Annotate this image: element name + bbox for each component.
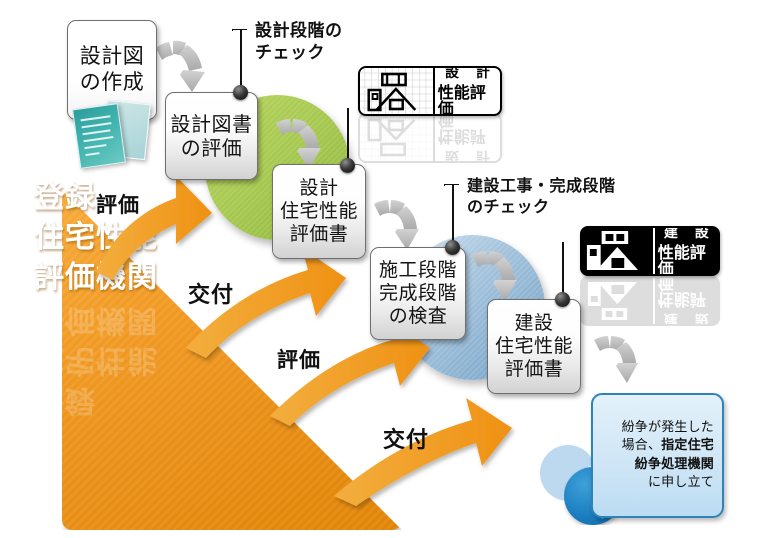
badge-text-reflection: 設 計性能評価 bbox=[433, 115, 500, 161]
flow-label-evaluation-1: 評価 bbox=[96, 189, 140, 219]
design-performance-badge: 設 計 性能評価 bbox=[358, 66, 502, 116]
dispute-line-3: 紛争処理機関 bbox=[622, 456, 714, 474]
construction-performance-badge: 建 設 性能評価 bbox=[580, 226, 720, 276]
callout-dot-construction bbox=[445, 240, 460, 255]
construction-badge-text: 建 設 性能評価 bbox=[653, 228, 718, 274]
node-design-housing-performance-report[interactable]: 設計 住宅性能 評価書 bbox=[272, 164, 366, 259]
node-construction-completion-inspection[interactable]: 施工段階 完成段階 の検査 bbox=[370, 247, 466, 340]
badge-text-reflection-2: 建 設性能評価 bbox=[653, 278, 718, 324]
dispute-resolution-note[interactable]: 紛争が発生した 場合、指定住宅 紛争処理機関 に申し立て bbox=[591, 393, 724, 518]
construction-performance-badge-reflection: 建 設性能評価 bbox=[580, 276, 720, 326]
house-grid-icon-reflection bbox=[360, 115, 433, 161]
callout-dot-construction-report bbox=[555, 292, 570, 307]
dispute-line-4: に申し立て bbox=[622, 474, 714, 492]
house-solid-icon bbox=[582, 228, 653, 274]
diagram-canvas: 設 計性能評価 建 設性能評価 bbox=[0, 0, 770, 538]
node-label: 建設 住宅性能 評価書 bbox=[495, 312, 573, 382]
house-solid-icon-reflection bbox=[582, 278, 653, 324]
drawing-documents-icon bbox=[74, 100, 154, 170]
callout-dot-design-report bbox=[340, 158, 355, 173]
flow-label-issuance-1: 交付 bbox=[188, 277, 234, 309]
callout-dot-design bbox=[233, 85, 248, 100]
node-label: 設計 住宅性能 評価書 bbox=[280, 177, 358, 247]
design-performance-badge-reflection: 設 計性能評価 bbox=[358, 113, 502, 163]
flow-label-evaluation-2: 評価 bbox=[277, 344, 321, 374]
document-front bbox=[72, 103, 126, 169]
badge-top-text: 建 設 bbox=[658, 226, 715, 240]
callout-stem-construction bbox=[452, 185, 454, 247]
dispute-line-2-bold: 指定住宅 bbox=[661, 438, 714, 453]
node-label: 設計図書 の評価 bbox=[171, 112, 253, 161]
house-grid-icon bbox=[360, 68, 433, 114]
node-label: 設計図 の作成 bbox=[80, 44, 145, 95]
callout-construction-completion-stage-check: 建設工事・完成段階 のチェック bbox=[467, 175, 616, 217]
dispute-line-2-plain: 場合、 bbox=[622, 438, 662, 453]
badge-top-text: 設 計 bbox=[439, 66, 496, 80]
badge-bottom-text: 性能評価 bbox=[438, 85, 497, 117]
callout-stem-design bbox=[240, 30, 242, 92]
dispute-line-1: 紛争が発生した bbox=[622, 419, 714, 437]
node-design-document-evaluation[interactable]: 設計図書 の評価 bbox=[165, 92, 258, 180]
flow-label-issuance-2: 交付 bbox=[383, 422, 429, 454]
dispute-line-2: 場合、指定住宅 bbox=[622, 437, 714, 455]
design-badge-text: 設 計 性能評価 bbox=[433, 68, 500, 114]
callout-design-stage-check: 設計段階の チェック bbox=[255, 20, 343, 65]
node-construction-housing-performance-report[interactable]: 建設 住宅性能 評価書 bbox=[487, 299, 581, 394]
badge-bottom-text: 性能評価 bbox=[658, 245, 715, 277]
node-label: 施工段階 完成段階 の検査 bbox=[379, 259, 457, 329]
